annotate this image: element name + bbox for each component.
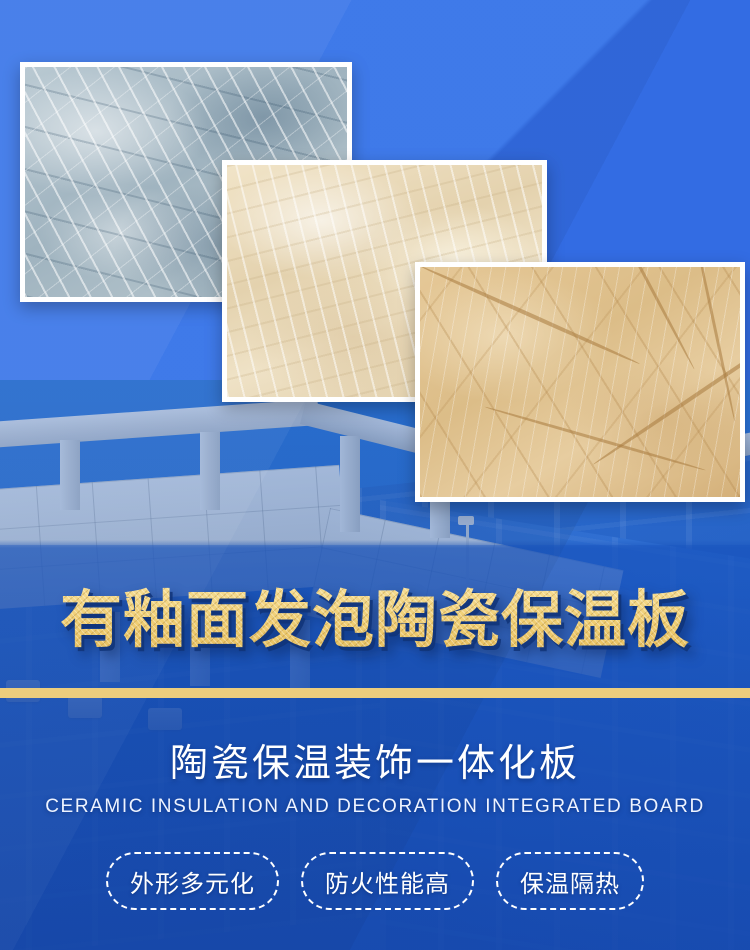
sample-tile-sand-marble[interactable] <box>415 262 745 502</box>
product-banner: 有釉面发泡陶瓷保温板 陶瓷保温装饰一体化板 CERAMIC INSULATION… <box>0 0 750 950</box>
feature-badge-2[interactable]: 防火性能高 <box>301 852 474 910</box>
tile-texture-3 <box>420 267 740 497</box>
subtitle-chinese: 陶瓷保温装饰一体化板 <box>0 740 750 786</box>
page-title: 有釉面发泡陶瓷保温板 <box>0 586 750 654</box>
feature-badge-3[interactable]: 保温隔热 <box>496 852 644 910</box>
feature-badge-1[interactable]: 外形多元化 <box>106 852 279 910</box>
subtitle-english: CERAMIC INSULATION AND DECORATION INTEGR… <box>0 795 750 819</box>
feature-badge-row: 外形多元化 防火性能高 保温隔热 <box>0 852 750 910</box>
marble-vein-1 <box>420 264 641 365</box>
marble-vein-5 <box>694 262 736 422</box>
gold-divider <box>0 688 750 698</box>
marble-vein-2 <box>594 262 695 370</box>
